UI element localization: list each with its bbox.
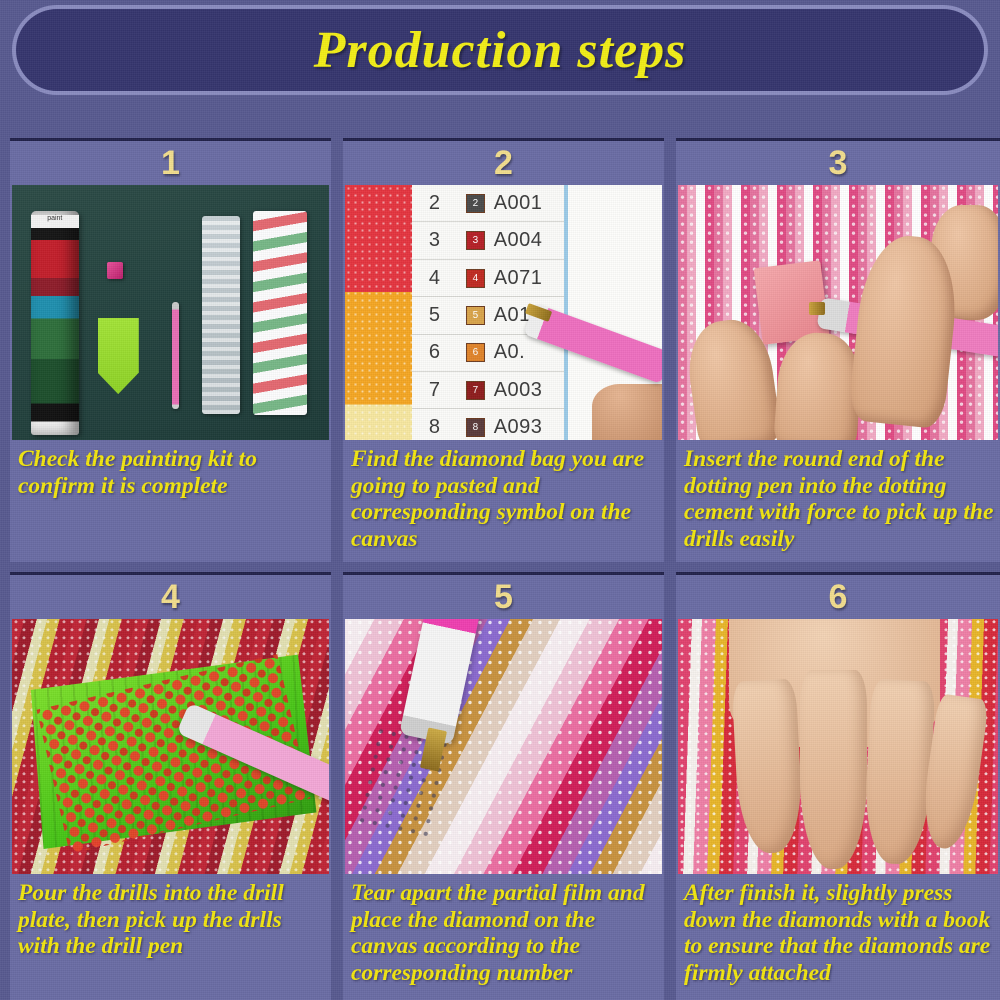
pink-chip-icon: [107, 262, 123, 280]
step-number-5: 5: [343, 575, 664, 619]
steps-grid: 1 paint Check the painting kit to confir…: [0, 138, 1000, 1000]
chart-row: 4 4 A071: [412, 260, 564, 297]
chart-swatch: 3: [457, 231, 494, 250]
chart-swatch: 5: [457, 306, 494, 325]
step-card-1[interactable]: 1 paint Check the painting kit to confir…: [10, 138, 331, 562]
chart-index: 5: [412, 304, 458, 327]
step-number-2: 2: [343, 141, 664, 185]
chart-row: 7 7 A003: [412, 372, 564, 409]
step-card-6[interactable]: 6 After finish it, slightly press down t…: [676, 572, 1000, 1000]
chart-index: 3: [412, 229, 458, 252]
chart-index: 2: [412, 192, 458, 215]
chart-swatch: 2: [457, 194, 494, 213]
step-caption-2: Find the diamond bag you are going to pa…: [343, 440, 664, 554]
pink-drill-pen-icon: [172, 302, 179, 409]
green-drill-tray-icon: [98, 318, 139, 395]
chart-swatch: 7: [457, 381, 494, 400]
step-photo-3: [678, 185, 998, 440]
step-number-6: 6: [676, 575, 1000, 619]
chart-code: A071: [494, 267, 564, 290]
step-photo-6: [678, 619, 998, 874]
pen-tip-icon: [809, 302, 825, 315]
step-card-4[interactable]: 4 Pour the drills into the drill plate, …: [10, 572, 331, 1000]
chart-code: A093: [494, 416, 564, 439]
chart-swatch: 4: [457, 269, 494, 288]
step-caption-3: Insert the round end of the dotting pen …: [676, 440, 1000, 554]
chart-swatch: 8: [457, 418, 494, 437]
finger-icon: [848, 231, 963, 429]
hand-icon: [592, 384, 662, 440]
finger-icon: [731, 679, 804, 856]
page-title-bar: Production steps: [12, 5, 988, 95]
step-card-5[interactable]: 5 Tear apart the partial film and place …: [343, 572, 664, 1000]
step-card-3[interactable]: 3 Insert the round end of the dotting pe…: [676, 138, 1000, 562]
chart-index: 4: [412, 267, 458, 290]
step-caption-5: Tear apart the partial film and place th…: [343, 874, 664, 988]
pink-pen-icon: [399, 619, 485, 745]
chart-index: 8: [412, 416, 458, 439]
chart-swatch: 6: [457, 343, 494, 362]
step-number-4: 4: [10, 575, 331, 619]
step-photo-5: [345, 619, 662, 874]
chart-code: A003: [494, 379, 564, 402]
chart-row: 3 3 A004: [412, 222, 564, 259]
page-title: Production steps: [314, 21, 687, 80]
step-photo-2: 2 2 A001 3 3 A004 4 4 A071: [345, 185, 662, 440]
step-caption-1: Check the painting kit to confirm it is …: [10, 440, 331, 501]
step-card-2[interactable]: 2 2 2 A001 3 3 A004 4: [343, 138, 664, 562]
step-number-3: 3: [676, 141, 1000, 185]
step-photo-1: paint: [12, 185, 329, 440]
step-caption-4: Pour the drills into the drill plate, th…: [10, 874, 331, 962]
diamond-packet-strip-icon: [253, 211, 307, 415]
chart-index: 7: [412, 379, 458, 402]
partial-canvas-icon: [345, 185, 412, 440]
chart-index: 6: [412, 341, 458, 364]
finger-icon: [800, 670, 867, 869]
chart-row: 2 2 A001: [412, 185, 564, 222]
chart-row: 8 8 A093: [412, 409, 564, 440]
sealed-plastic-bag-icon: [202, 216, 240, 415]
step-number-1: 1: [10, 141, 331, 185]
chart-code: A004: [494, 229, 564, 252]
finger-icon: [862, 679, 936, 866]
step-caption-6: After finish it, slightly press down the…: [676, 874, 1000, 988]
chart-code: A001: [494, 192, 564, 215]
canvas-tube-icon: paint: [31, 211, 79, 435]
step-photo-4: [12, 619, 329, 874]
